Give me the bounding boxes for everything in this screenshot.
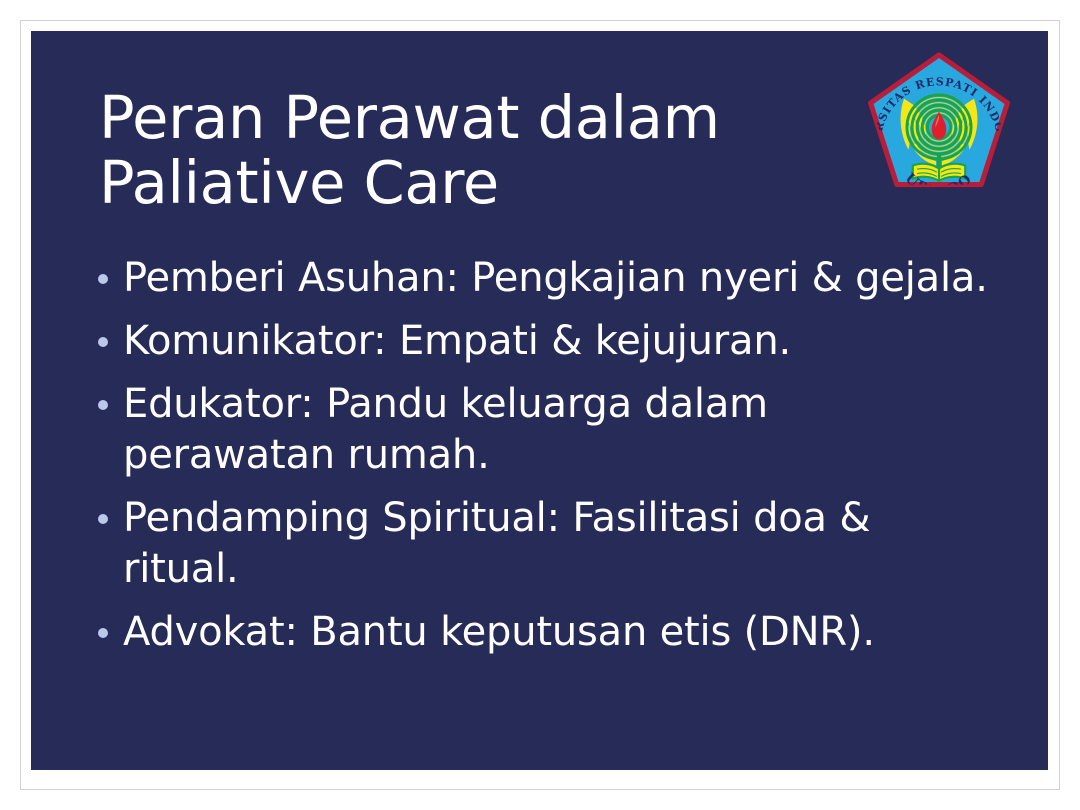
bullet-item-5: Advokat: Bantu keputusan etis (DNR). — [91, 607, 991, 658]
bullet-item-3: Edukator: Pandu keluarga dalam perawatan… — [91, 379, 991, 481]
bullet-dot-icon — [98, 337, 108, 347]
bullet-item-label: Edukator: Pandu keluarga dalam perawatan… — [123, 379, 991, 481]
bullet-item-label: Pendamping Spiritual: Fasilitasi doa & r… — [123, 493, 991, 595]
bullet-item-label: Pemberi Asuhan: Pengkajian nyeri & gejal… — [123, 253, 991, 304]
bullet-item-1: Pemberi Asuhan: Pengkajian nyeri & gejal… — [91, 253, 991, 304]
bullet-item-label: Advokat: Bantu keputusan etis (DNR). — [123, 607, 991, 658]
bullet-dot-icon — [98, 514, 108, 524]
bullet-item-label: Komunikator: Empati & kejujuran. — [123, 316, 991, 367]
slide-title: Peran Perawat dalam Paliative Care — [99, 85, 939, 215]
urindo-logo-icon: UNIVERSITAS RESPATI INDONESIA — [866, 52, 1012, 202]
bullet-dot-icon — [98, 628, 108, 638]
bullet-item-4: Pendamping Spiritual: Fasilitasi doa & r… — [91, 493, 991, 595]
slide-root: Peran Perawat dalam Paliative Care Pembe… — [0, 0, 1080, 810]
bullet-item-2: Komunikator: Empati & kejujuran. — [91, 316, 991, 367]
bullet-dot-icon — [98, 274, 108, 284]
slide-canvas: Peran Perawat dalam Paliative Care Pembe… — [31, 31, 1048, 770]
bullet-dot-icon — [98, 400, 108, 410]
bullet-list: Pemberi Asuhan: Pengkajian nyeri & gejal… — [91, 253, 991, 670]
